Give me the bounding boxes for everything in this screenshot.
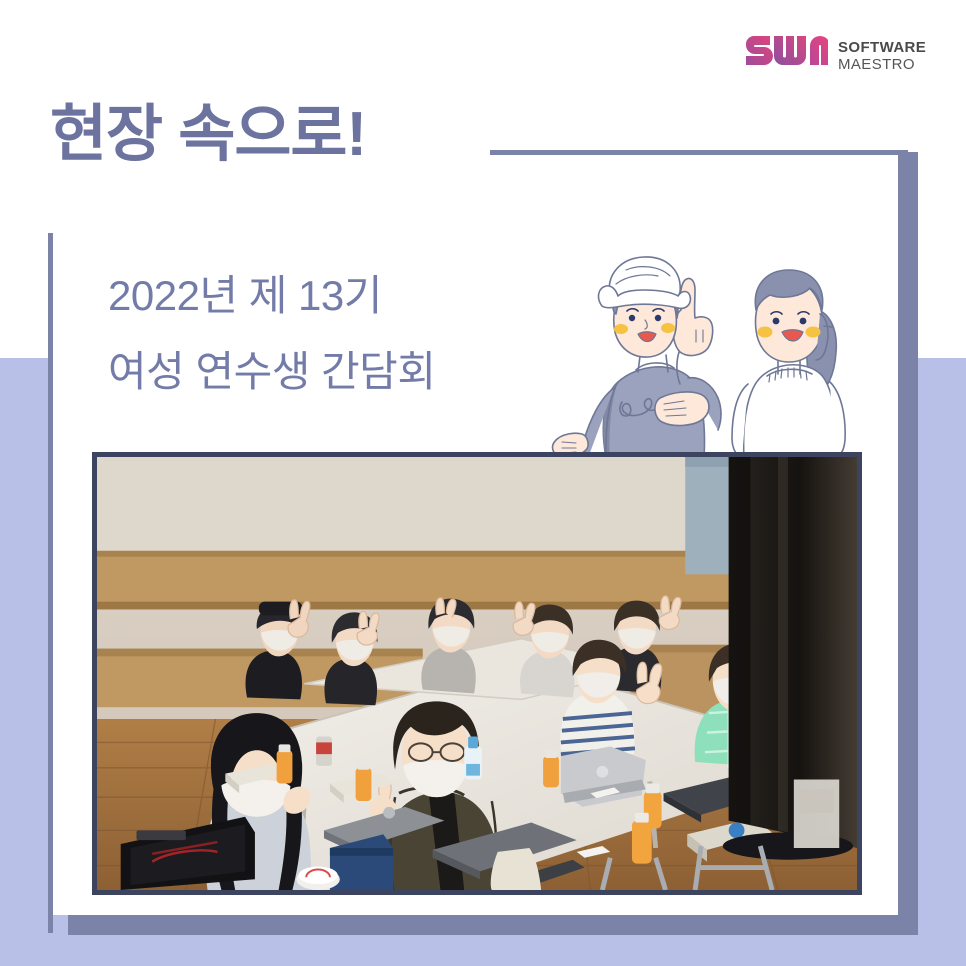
frame-left-rule	[48, 233, 53, 933]
logo-wordmark: SOFTWARE MAESTRO	[838, 40, 926, 74]
poster-canvas: SOFTWARE MAESTRO 현장 속으로! 2022년 제 13기 여성 …	[0, 0, 966, 966]
logo-line-1: SOFTWARE	[838, 40, 926, 57]
group-photo	[92, 452, 862, 895]
subtitle-line-1: 2022년 제 13기	[108, 258, 435, 334]
frame-top-rule	[490, 150, 908, 155]
subtitle-block: 2022년 제 13기 여성 연수생 간담회	[108, 258, 435, 410]
page-title: 현장 속으로!	[50, 104, 366, 166]
software-maestro-logo: SOFTWARE MAESTRO	[742, 36, 926, 77]
two-characters-illustration	[548, 248, 878, 468]
group-photo-image	[97, 457, 857, 890]
subtitle-line-2: 여성 연수생 간담회	[108, 334, 435, 410]
logo-line-2: MAESTRO	[838, 57, 926, 74]
sw-monogram-icon	[742, 36, 828, 77]
